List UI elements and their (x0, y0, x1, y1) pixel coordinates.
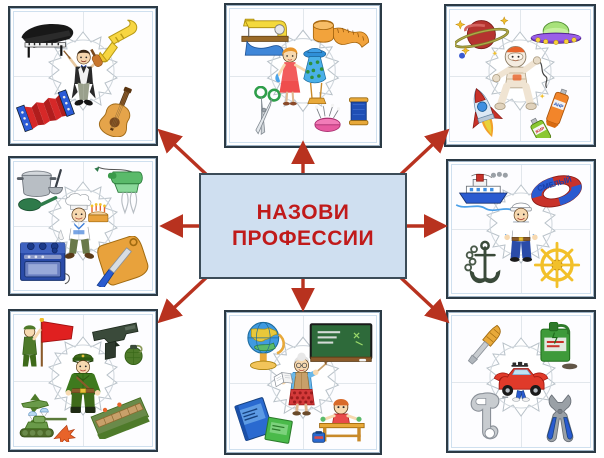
center-title-box: НАЗОВИ ПРОФЕССИИ (199, 173, 407, 279)
arrow-to-mechanic (395, 272, 455, 328)
title-line-2: ПРОФЕССИИ (232, 226, 374, 252)
panel-teacher-inner (229, 315, 377, 450)
cosmonaut-figure (489, 41, 551, 109)
panel-musician[interactable] (8, 6, 158, 146)
panel-cosmonaut[interactable]: АНР ЖИР (444, 4, 596, 147)
professions-diagram: НАЗОВИ ПРОФЕССИИ (0, 0, 604, 458)
panel-soldier[interactable] (8, 309, 158, 452)
panel-cook[interactable] (8, 156, 158, 296)
sailor-figure (491, 196, 552, 263)
title-line-1: НАЗОВИ (257, 200, 350, 226)
panel-mechanic-inner (451, 315, 591, 448)
violinist-conductor-figure (53, 43, 114, 110)
panel-seamstress-inner (229, 8, 377, 143)
chef-with-cake-figure (53, 193, 114, 260)
arrow-to-cook (155, 215, 205, 237)
arrow-to-musician (152, 124, 212, 180)
soldier-officer-figure (53, 346, 114, 414)
panel-sailor[interactable]: СМЕЛЫЙ (446, 159, 596, 299)
panel-cook-inner (13, 161, 153, 291)
arrow-to-soldier (152, 272, 212, 328)
seamstress-with-dress-figure (271, 41, 335, 110)
panel-sailor-inner: СМЕЛЫЙ (451, 164, 591, 294)
arrow-to-sailor (402, 215, 452, 237)
panel-cosmonaut-inner: АНР ЖИР (449, 9, 591, 142)
panel-teacher[interactable] (224, 310, 382, 455)
panel-seamstress[interactable] (224, 3, 382, 148)
arrow-to-cosmonaut (395, 124, 455, 180)
panel-musician-inner (13, 11, 153, 141)
teacher-figure (271, 348, 335, 417)
panel-soldier-inner (13, 314, 153, 447)
panel-mechanic[interactable] (446, 310, 596, 453)
mechanic-under-car-figure (491, 347, 552, 415)
arrow-to-teacher (292, 274, 314, 316)
arrow-to-seamstress (292, 136, 314, 178)
